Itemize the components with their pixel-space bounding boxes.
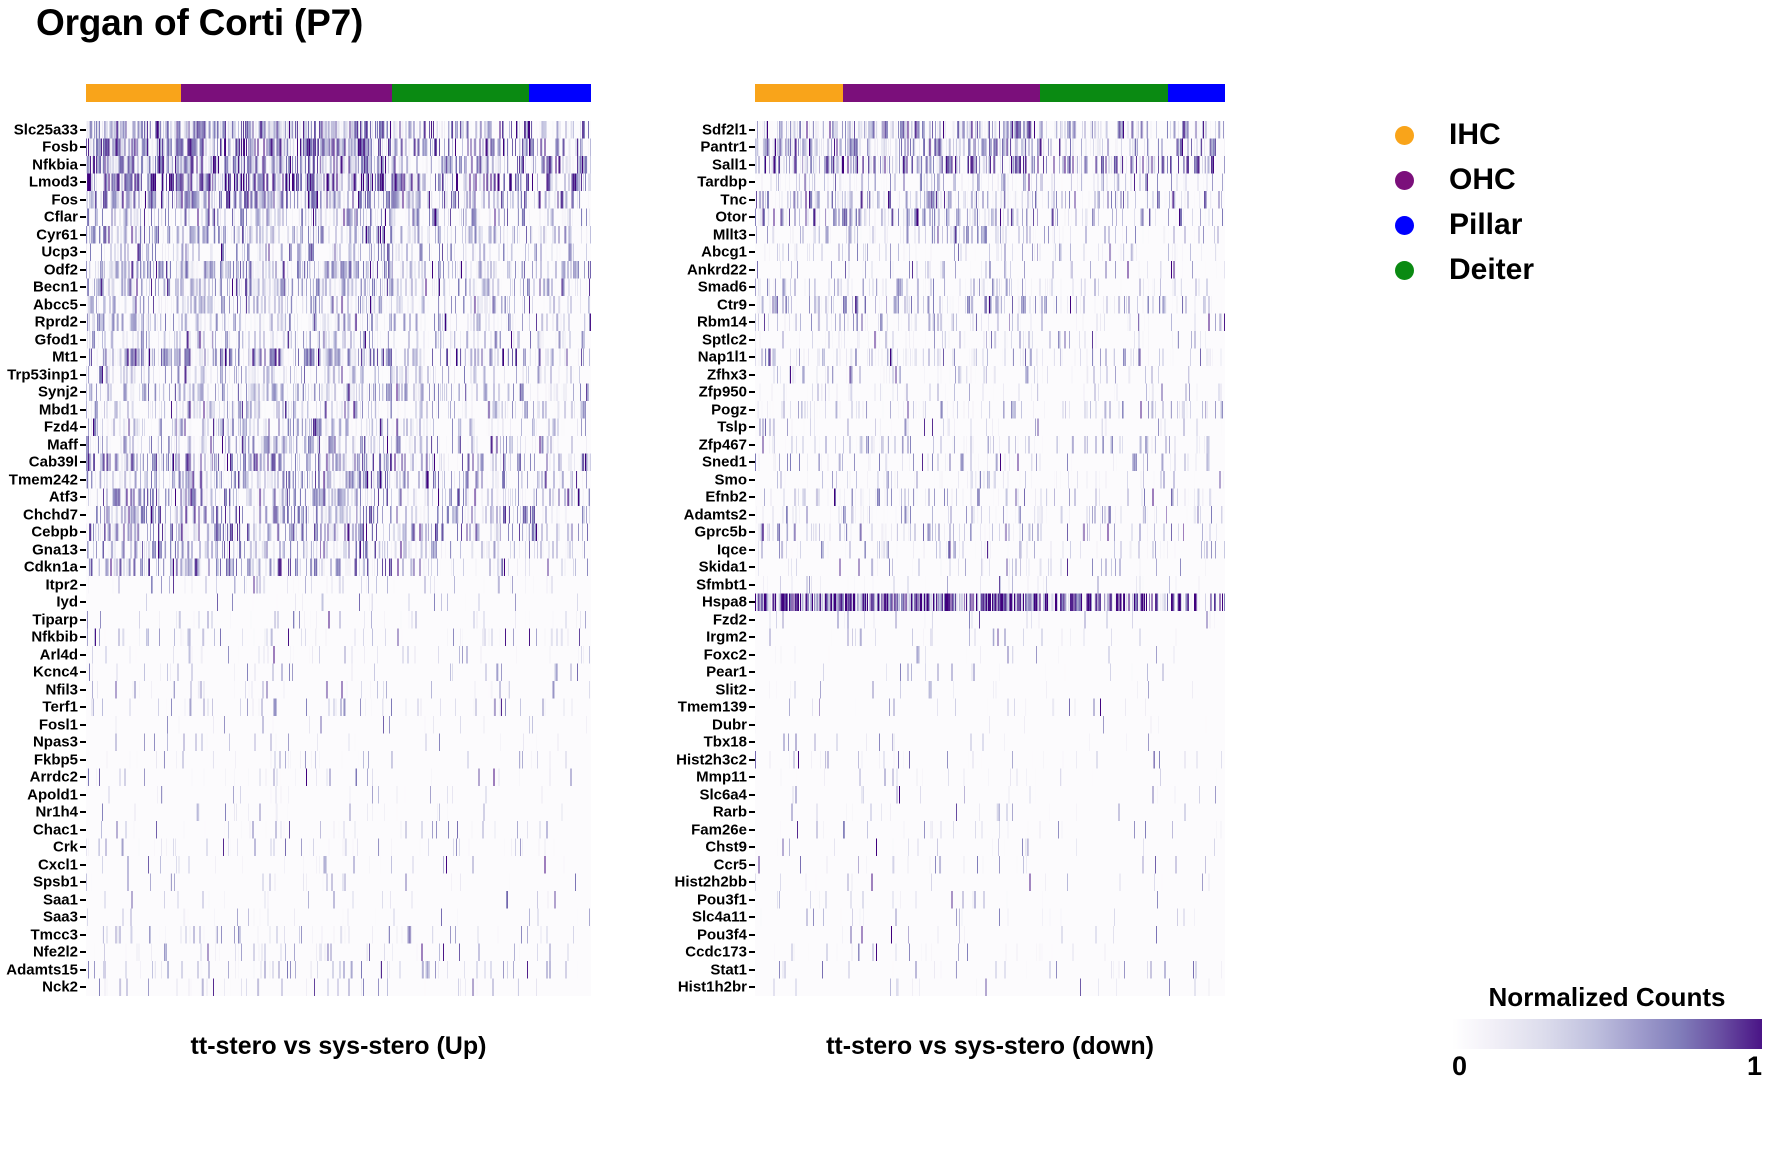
row-label: Chst9 xyxy=(705,840,747,855)
row-label: Mmp11 xyxy=(696,770,747,785)
row-label: Rbm14 xyxy=(697,315,747,330)
figure-title: Organ of Corti (P7) xyxy=(36,2,363,44)
row-label: Gfod1 xyxy=(35,332,78,347)
row-label: Tnc xyxy=(720,192,747,207)
row-label: Slc6a4 xyxy=(699,787,747,802)
row-label: Maff xyxy=(47,437,78,452)
row-label: Gna13 xyxy=(32,542,78,557)
row-label: Synj2 xyxy=(38,385,78,400)
row-label: Slc25a33 xyxy=(14,122,78,137)
row-label: Kcnc4 xyxy=(33,665,78,680)
column-group-segment-ihc xyxy=(755,84,843,102)
row-label: Tslp xyxy=(717,420,747,435)
row-label: Mt1 xyxy=(52,350,78,365)
column-group-bar-down xyxy=(755,84,1225,102)
row-label: Nfkbib xyxy=(31,630,78,645)
row-label: Hspa8 xyxy=(702,595,747,610)
row-label-axis-up: Slc25a33FosbNfkbiaLmod3FosCflarCyr61Ucp3… xyxy=(0,121,86,996)
row-label: Crk xyxy=(53,840,78,855)
heatmap-body-down: Sdf2l1Pantr1Sall1TardbpTncOtorMllt3Abcg1… xyxy=(630,121,1225,996)
colorbar-max-label: 1 xyxy=(1747,1051,1762,1082)
heatmap-canvas-box-down xyxy=(755,121,1225,996)
row-label: Ucp3 xyxy=(41,245,78,260)
legend-dot-icon xyxy=(1395,261,1414,280)
row-label: Nap1l1 xyxy=(698,350,747,365)
row-label: Irgm2 xyxy=(706,630,747,645)
row-label: Cdkn1a xyxy=(24,560,78,575)
row-label: Fzd4 xyxy=(44,420,78,435)
column-group-segment-deiter xyxy=(1040,84,1168,102)
row-label: Gprc5b xyxy=(694,525,747,540)
row-label: Fam26e xyxy=(691,822,747,837)
row-label: Slit2 xyxy=(715,682,747,697)
colorbar-gradient xyxy=(1452,1019,1762,1049)
row-label: Arrdc2 xyxy=(30,770,78,785)
row-label: Ccr5 xyxy=(714,857,747,872)
row-label: Pear1 xyxy=(706,665,747,680)
row-label: Abcc5 xyxy=(33,297,78,312)
figure-root: Organ of Corti (P7) Slc25a33FosbNfkbiaLm… xyxy=(0,0,1772,1168)
row-label: Rprd2 xyxy=(35,315,78,330)
panel-xlabel-up: tt-stero vs sys-stero (Up) xyxy=(86,1032,591,1061)
column-group-segment-ohc xyxy=(181,84,392,102)
row-label: Chchd7 xyxy=(23,507,78,522)
column-group-segment-deiter xyxy=(392,84,529,102)
row-label: Hist1h2br xyxy=(678,980,747,995)
row-label: Becn1 xyxy=(33,280,78,295)
row-label: Sall1 xyxy=(712,157,747,172)
row-label: Cxcl1 xyxy=(38,857,78,872)
legend-item-label: Pillar xyxy=(1449,210,1522,240)
legend-dot-icon xyxy=(1395,216,1414,235)
column-group-segment-ohc xyxy=(843,84,1039,102)
row-label: Trp53inp1 xyxy=(7,367,78,382)
colorbar-title: Normalized Counts xyxy=(1452,982,1762,1013)
row-label: Skida1 xyxy=(699,560,747,575)
row-label: Chac1 xyxy=(33,822,78,837)
row-label: Zfhx3 xyxy=(707,367,747,382)
heatmap-canvas-box-up xyxy=(86,121,591,996)
row-label: Smo xyxy=(714,472,747,487)
panel-xlabel-down: tt-stero vs sys-stero (down) xyxy=(755,1032,1225,1061)
legend-item-deiter[interactable]: Deiter xyxy=(1395,250,1534,290)
row-label: Nr1h4 xyxy=(35,805,78,820)
row-label: Efnb2 xyxy=(705,490,747,505)
row-label: Nck2 xyxy=(42,980,78,995)
row-label: Saa1 xyxy=(43,892,78,907)
row-label: Cab39l xyxy=(29,455,78,470)
row-label: Saa3 xyxy=(43,910,78,925)
row-label: Ankrd22 xyxy=(687,262,747,277)
row-label: Cebpb xyxy=(31,525,78,540)
row-label: Pou3f4 xyxy=(697,927,747,942)
legend-item-label: OHC xyxy=(1449,165,1516,195)
column-group-segment-ihc xyxy=(86,84,181,102)
row-label: Tbx18 xyxy=(704,735,747,750)
column-group-segment-pillar xyxy=(529,84,591,102)
colorbar-legend: Normalized Counts 0 1 xyxy=(1452,982,1762,1083)
row-label: Pantr1 xyxy=(700,140,747,155)
row-label: Apold1 xyxy=(27,787,78,802)
row-label: Adamts15 xyxy=(6,962,78,977)
row-label: Npas3 xyxy=(33,735,78,750)
colorbar-ticks: 0 1 xyxy=(1452,1049,1762,1083)
legend-item-label: IHC xyxy=(1449,120,1501,150)
row-label: Tmem242 xyxy=(9,472,78,487)
row-label: Zfp467 xyxy=(699,437,747,452)
row-label: Ccdc173 xyxy=(685,945,747,960)
legend-item-ihc[interactable]: IHC xyxy=(1395,115,1534,155)
colorbar-min-label: 0 xyxy=(1452,1051,1467,1082)
row-label: Sptlc2 xyxy=(702,332,747,347)
row-label: Pogz xyxy=(711,402,747,417)
row-label: Terf1 xyxy=(42,700,78,715)
row-label: Fos xyxy=(51,192,78,207)
row-label: Dubr xyxy=(712,717,747,732)
row-label: Hist2h3c2 xyxy=(676,752,747,767)
row-label: Fzd2 xyxy=(713,612,747,627)
row-label: Fosb xyxy=(42,140,78,155)
row-label: Arl4d xyxy=(40,647,78,662)
heatmap-canvas-down xyxy=(755,121,1225,996)
row-label: Tiparp xyxy=(32,612,78,627)
row-label: Nfkbia xyxy=(32,157,78,172)
row-label: Cyr61 xyxy=(36,227,78,242)
row-label: Stat1 xyxy=(710,962,747,977)
row-label: Nfe2l2 xyxy=(33,945,78,960)
row-label: Sfmbt1 xyxy=(696,577,747,592)
row-label: Adamts2 xyxy=(684,507,747,522)
row-label: Pou3f1 xyxy=(697,892,747,907)
row-label: Mbd1 xyxy=(39,402,78,417)
row-label: Fkbp5 xyxy=(34,752,78,767)
legend-item-ohc[interactable]: OHC xyxy=(1395,160,1534,200)
row-label: Sdf2l1 xyxy=(702,122,747,137)
column-group-segment-pillar xyxy=(1168,84,1225,102)
row-label: Abcg1 xyxy=(701,245,747,260)
row-label: Fosl1 xyxy=(39,717,78,732)
row-label: Smad6 xyxy=(698,280,747,295)
row-label: Sned1 xyxy=(702,455,747,470)
row-label: Foxc2 xyxy=(704,647,747,662)
row-label: Otor xyxy=(715,210,747,225)
row-label: Atf3 xyxy=(49,490,78,505)
row-label: Rarb xyxy=(713,805,747,820)
legend-item-pillar[interactable]: Pillar xyxy=(1395,205,1534,245)
row-label: Iqce xyxy=(717,542,747,557)
row-label: Slc4a11 xyxy=(692,910,747,925)
row-label: Mllt3 xyxy=(713,227,747,242)
row-label: Tardbp xyxy=(697,175,747,190)
row-label: Cflar xyxy=(44,210,78,225)
legend-dot-icon xyxy=(1395,171,1414,190)
row-label: Zfp950 xyxy=(699,385,747,400)
row-label-axis-down: Sdf2l1Pantr1Sall1TardbpTncOtorMllt3Abcg1… xyxy=(630,121,755,996)
heatmap-canvas-up xyxy=(86,121,591,996)
row-label: Odf2 xyxy=(44,262,78,277)
row-label: Spsb1 xyxy=(33,875,78,890)
row-label: Ctr9 xyxy=(717,297,747,312)
row-label: Tmcc3 xyxy=(30,927,78,942)
row-label: Iyd xyxy=(56,595,78,610)
cell-type-legend: IHCOHCPillarDeiter xyxy=(1395,115,1534,295)
row-label: Nfil3 xyxy=(45,682,78,697)
row-label: Itpr2 xyxy=(45,577,78,592)
row-label: Lmod3 xyxy=(29,175,78,190)
heatmap-body-up: Slc25a33FosbNfkbiaLmod3FosCflarCyr61Ucp3… xyxy=(0,121,591,996)
row-label: Tmem139 xyxy=(678,700,747,715)
legend-dot-icon xyxy=(1395,126,1414,145)
row-label: Hist2h2bb xyxy=(674,875,747,890)
column-group-bar-up xyxy=(86,84,591,102)
legend-item-label: Deiter xyxy=(1449,255,1534,285)
